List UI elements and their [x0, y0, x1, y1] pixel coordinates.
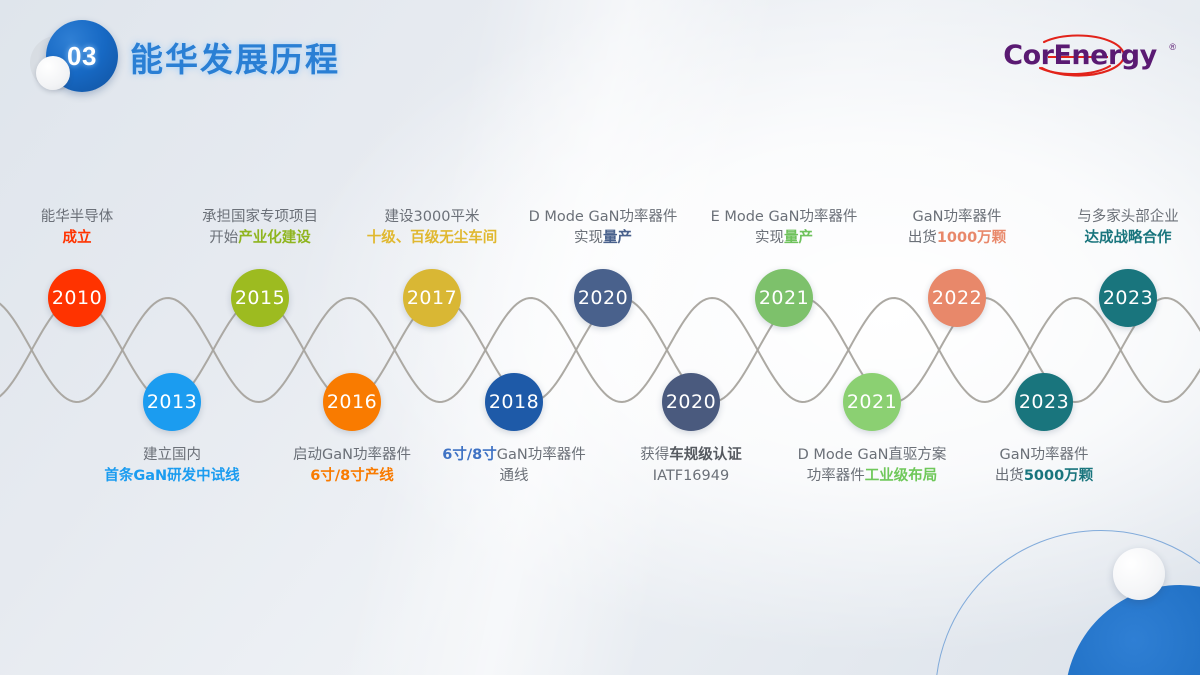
timeline-node-top-2010-0[interactable]: 2010: [48, 269, 106, 327]
timeline-label-bottom-2023-5: GaN功率器件出货5000万颗: [884, 445, 1200, 486]
badge-white-dot-icon: [36, 56, 70, 90]
timeline-label-top-2023-6-seg-1-1: 与多家头部企业: [1077, 209, 1179, 225]
timeline-node-year: 2021: [847, 391, 897, 413]
timeline-node-year: 2016: [327, 391, 377, 413]
timeline-node-bottom-2016-1[interactable]: 2016: [323, 373, 381, 431]
badge-number: 03: [67, 41, 97, 72]
timeline-node-top-2023-6[interactable]: 2023: [1099, 269, 1157, 327]
timeline-label-top-2023-6: 与多家头部企业达成战略合作: [968, 207, 1200, 248]
timeline-node-top-2017-2[interactable]: 2017: [403, 269, 461, 327]
timeline-label-bottom-2018-2-seg-1-1: 6寸/8寸: [442, 447, 496, 463]
timeline-node-year: 2020: [578, 287, 628, 309]
timeline-label-top-2023-6-seg-2-1: 达成战略合作: [1085, 230, 1172, 246]
section-badge: 03: [28, 16, 146, 98]
timeline-label-bottom-2023-5-seg-1-1: GaN功率器件: [1000, 447, 1089, 463]
slide-canvas: 03 能华发展历程 CorEnergy ® 201020152017202020…: [0, 0, 1200, 675]
decorative-white-circle: [1113, 548, 1165, 600]
timeline-label-bottom-2023-5-line-2: 出货5000万颗: [884, 466, 1200, 487]
timeline-node-year: 2017: [407, 287, 457, 309]
timeline-node-year: 2018: [489, 391, 539, 413]
timeline-node-year: 2010: [52, 287, 102, 309]
timeline: 2010201520172020202120222023201320162018…: [0, 196, 1200, 496]
corenergy-logo: CorEnergy ®: [982, 24, 1178, 86]
timeline-node-top-2015-1[interactable]: 2015: [231, 269, 289, 327]
timeline-label-top-2021-4-seg-2-1: 实现: [755, 230, 784, 246]
timeline-node-top-2022-5[interactable]: 2022: [928, 269, 986, 327]
timeline-node-year: 2013: [147, 391, 197, 413]
timeline-label-bottom-2021-4-seg-2-1: 功率器件: [807, 468, 865, 484]
timeline-node-bottom-2023-5[interactable]: 2023: [1015, 373, 1073, 431]
logo-wordmark: CorEnergy: [988, 40, 1172, 71]
timeline-node-bottom-2018-2[interactable]: 2018: [485, 373, 543, 431]
page-title: 能华发展历程: [130, 33, 340, 81]
timeline-label-bottom-2023-5-line-1: GaN功率器件: [884, 445, 1200, 466]
timeline-node-year: 2021: [759, 287, 809, 309]
timeline-node-year: 2023: [1103, 287, 1153, 309]
timeline-node-bottom-2021-4[interactable]: 2021: [843, 373, 901, 431]
timeline-label-bottom-2020-3-seg-1-1: 获得: [640, 447, 669, 463]
timeline-node-year: 2020: [666, 391, 716, 413]
timeline-label-top-2023-6-line-2: 达成战略合作: [968, 228, 1200, 249]
timeline-label-top-2023-6-line-1: 与多家头部企业: [968, 207, 1200, 228]
timeline-label-top-2020-3-seg-2-1: 实现: [574, 230, 603, 246]
timeline-node-year: 2015: [235, 287, 285, 309]
timeline-node-top-2020-3[interactable]: 2020: [574, 269, 632, 327]
timeline-node-bottom-2013-0[interactable]: 2013: [143, 373, 201, 431]
timeline-label-top-2022-5-seg-2-1: 出货: [908, 230, 937, 246]
timeline-node-bottom-2020-3[interactable]: 2020: [662, 373, 720, 431]
timeline-node-top-2021-4[interactable]: 2021: [755, 269, 813, 327]
timeline-node-year: 2023: [1019, 391, 1069, 413]
timeline-node-year: 2022: [932, 287, 982, 309]
timeline-label-top-2015-1-seg-2-1: 开始: [209, 230, 238, 246]
timeline-label-bottom-2023-5-seg-2-2: 5000万颗: [1024, 468, 1093, 484]
timeline-label-bottom-2018-2-seg-2-1: 通线: [500, 468, 529, 484]
timeline-label-top-2010-0-seg-2-1: 成立: [63, 230, 92, 246]
timeline-label-bottom-2023-5-seg-2-1: 出货: [995, 468, 1024, 484]
logo-registered-mark: ®: [1169, 42, 1176, 52]
